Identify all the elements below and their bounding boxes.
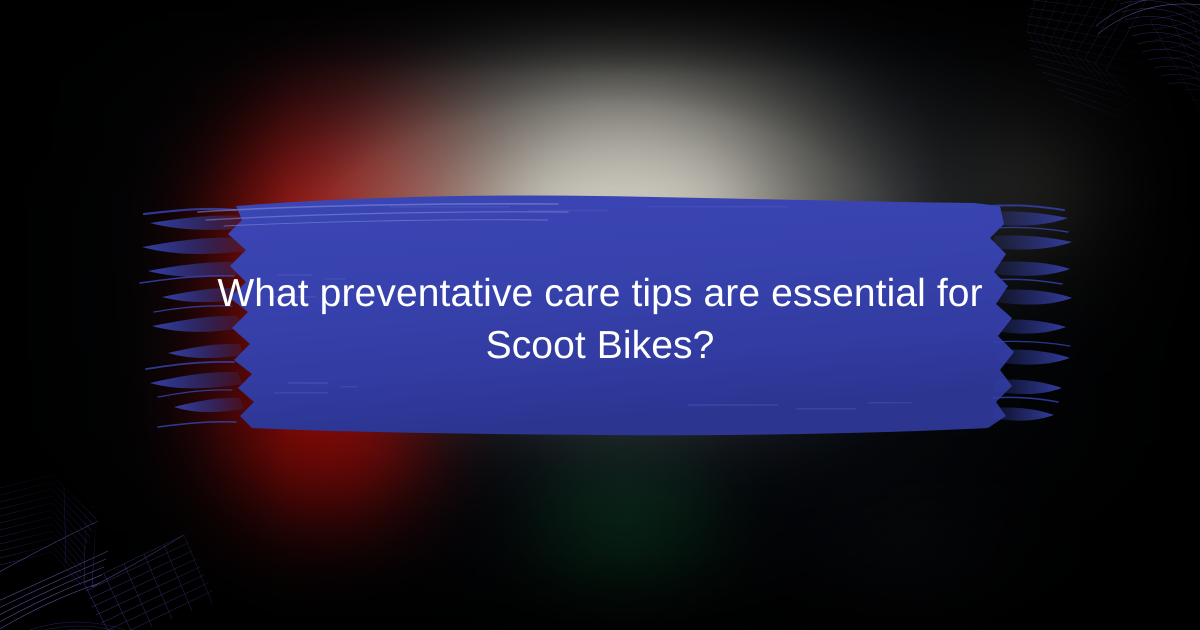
page-title: What preventative care tips are essentia… (190, 268, 1010, 372)
social-share-card: What preventative care tips are essentia… (0, 0, 1200, 630)
